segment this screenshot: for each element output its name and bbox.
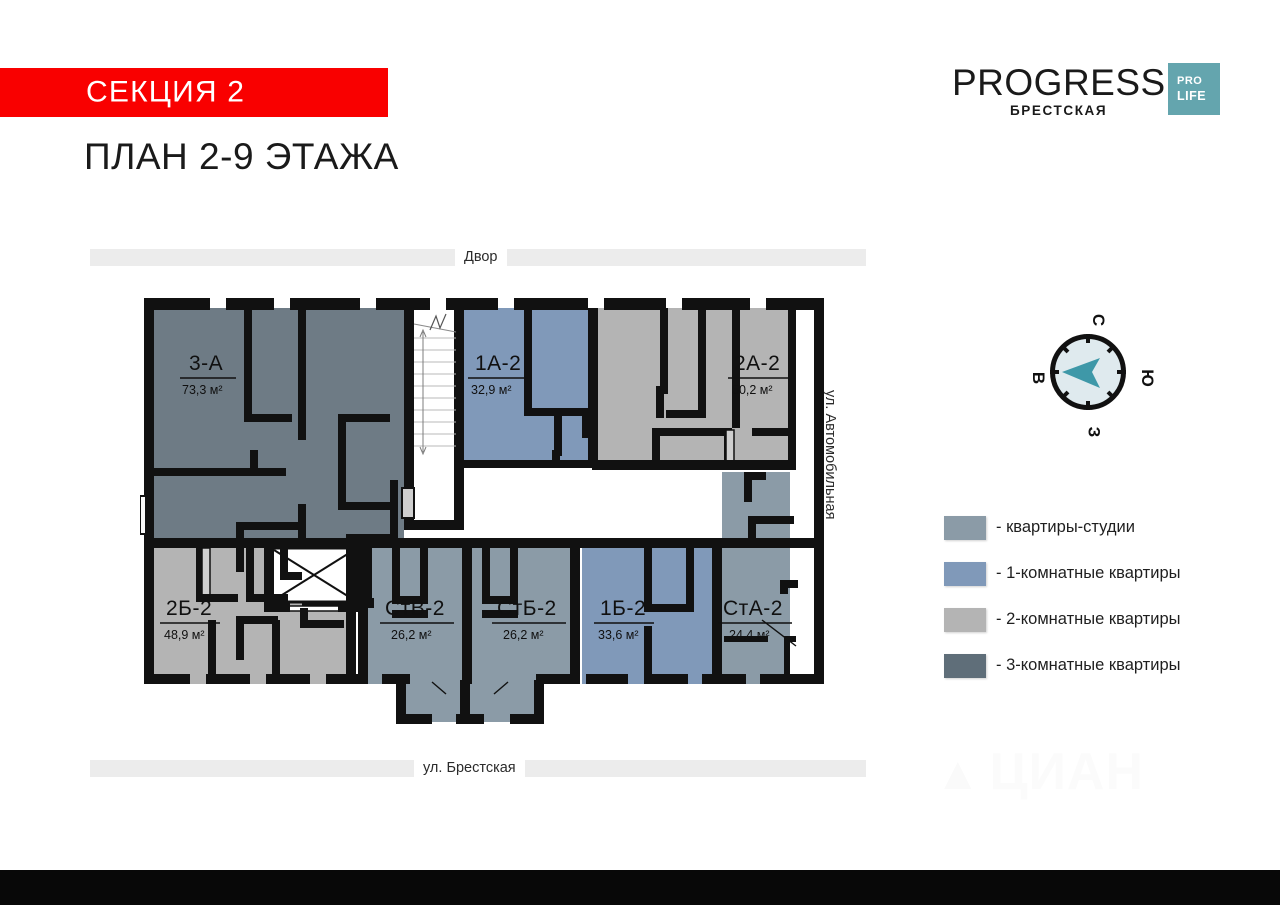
legend-label: - квартиры-студии xyxy=(996,512,1135,542)
compass-needle xyxy=(1062,358,1100,388)
apartment-id: 1Б-2 xyxy=(600,597,646,620)
prolife-badge: PRO LIFE xyxy=(1168,63,1220,115)
compass-label-north: С xyxy=(1088,314,1108,326)
apartment-id: 1А-2 xyxy=(475,352,521,375)
apartment-area: 26,2 м² xyxy=(391,628,432,642)
compass-rose: С В Ю З xyxy=(1026,310,1156,440)
legend-swatch xyxy=(944,654,986,678)
staircase-icon xyxy=(414,324,456,446)
compass-label-west: З xyxy=(1083,427,1103,438)
apartment-id: 2А-2 xyxy=(734,352,780,375)
legend: - квартиры-студии - 1-комнатные квартиры… xyxy=(944,512,1244,696)
section-banner: СЕКЦИЯ 2 xyxy=(0,68,388,117)
apartment-area-sta2 xyxy=(722,472,790,684)
brand-logo: PROGRESS БРЕСТСКАЯ PRO LIFE xyxy=(952,62,1220,122)
legend-label: - 3-комнатные квартиры xyxy=(996,650,1181,680)
apartment-id: СтВ-2 xyxy=(385,597,445,620)
apartment-id: 2Б-2 xyxy=(166,597,212,620)
apartment-area: 73,3 м² xyxy=(182,383,223,397)
legend-item-three-room: - 3-комнатные квартиры xyxy=(944,650,1244,696)
compass-label-south: Ю xyxy=(1137,369,1157,387)
watermark-icon: ▲ xyxy=(935,747,982,799)
section-banner-label: СЕКЦИЯ 2 xyxy=(86,75,245,109)
watermark-text: ЦИАН xyxy=(990,743,1144,801)
legend-label: - 2-комнатные квартиры xyxy=(996,604,1181,634)
floor-plan-page: СЕКЦИЯ 2 ПЛАН 2-9 ЭТАЖА PROGRESS БРЕСТСК… xyxy=(0,0,1280,905)
logo-brand-text: PROGRESS xyxy=(952,62,1166,104)
staircase-direction-arrow xyxy=(420,330,426,454)
legend-swatch xyxy=(944,608,986,632)
bottom-bar xyxy=(0,870,1280,905)
legend-item-two-room: - 2-комнатные квартиры xyxy=(944,604,1244,650)
logo-sub-text: БРЕСТСКАЯ xyxy=(1010,103,1107,118)
apartment-area: 24,4 м² xyxy=(729,628,770,642)
apartment-area: 32,9 м² xyxy=(471,383,512,397)
page-title: ПЛАН 2-9 ЭТАЖА xyxy=(84,136,399,178)
legend-item-studio: - квартиры-студии xyxy=(944,512,1244,558)
apartment-area: 50,2 м² xyxy=(732,383,773,397)
watermark: ▲ЦИАН xyxy=(935,742,1144,802)
prolife-badge-line2: LIFE xyxy=(1177,89,1206,103)
legend-swatch xyxy=(944,516,986,540)
apartment-id: 3-А xyxy=(189,352,223,375)
legend-label: - 1-комнатные квартиры xyxy=(996,558,1181,588)
legend-swatch xyxy=(944,562,986,586)
apartment-id: СтБ-2 xyxy=(497,597,557,620)
courtyard-label: Двор xyxy=(455,248,507,267)
apartment-area: 33,6 м² xyxy=(598,628,639,642)
apartment-area: 26,2 м² xyxy=(503,628,544,642)
apartment-area: 48,9 м² xyxy=(164,628,205,642)
compass-label-east: В xyxy=(1028,372,1048,384)
legend-item-one-room: - 1-комнатные квартиры xyxy=(944,558,1244,604)
brestskaya-label: ул. Брестская xyxy=(414,759,525,778)
prolife-badge-line1: PRO xyxy=(1177,75,1202,87)
apartment-id: СтА-2 xyxy=(723,597,783,620)
floor-plan-drawing: 3-А 73,3 м² 1А-2 32,9 м² 2А-2 50,2 м² xyxy=(140,290,830,730)
